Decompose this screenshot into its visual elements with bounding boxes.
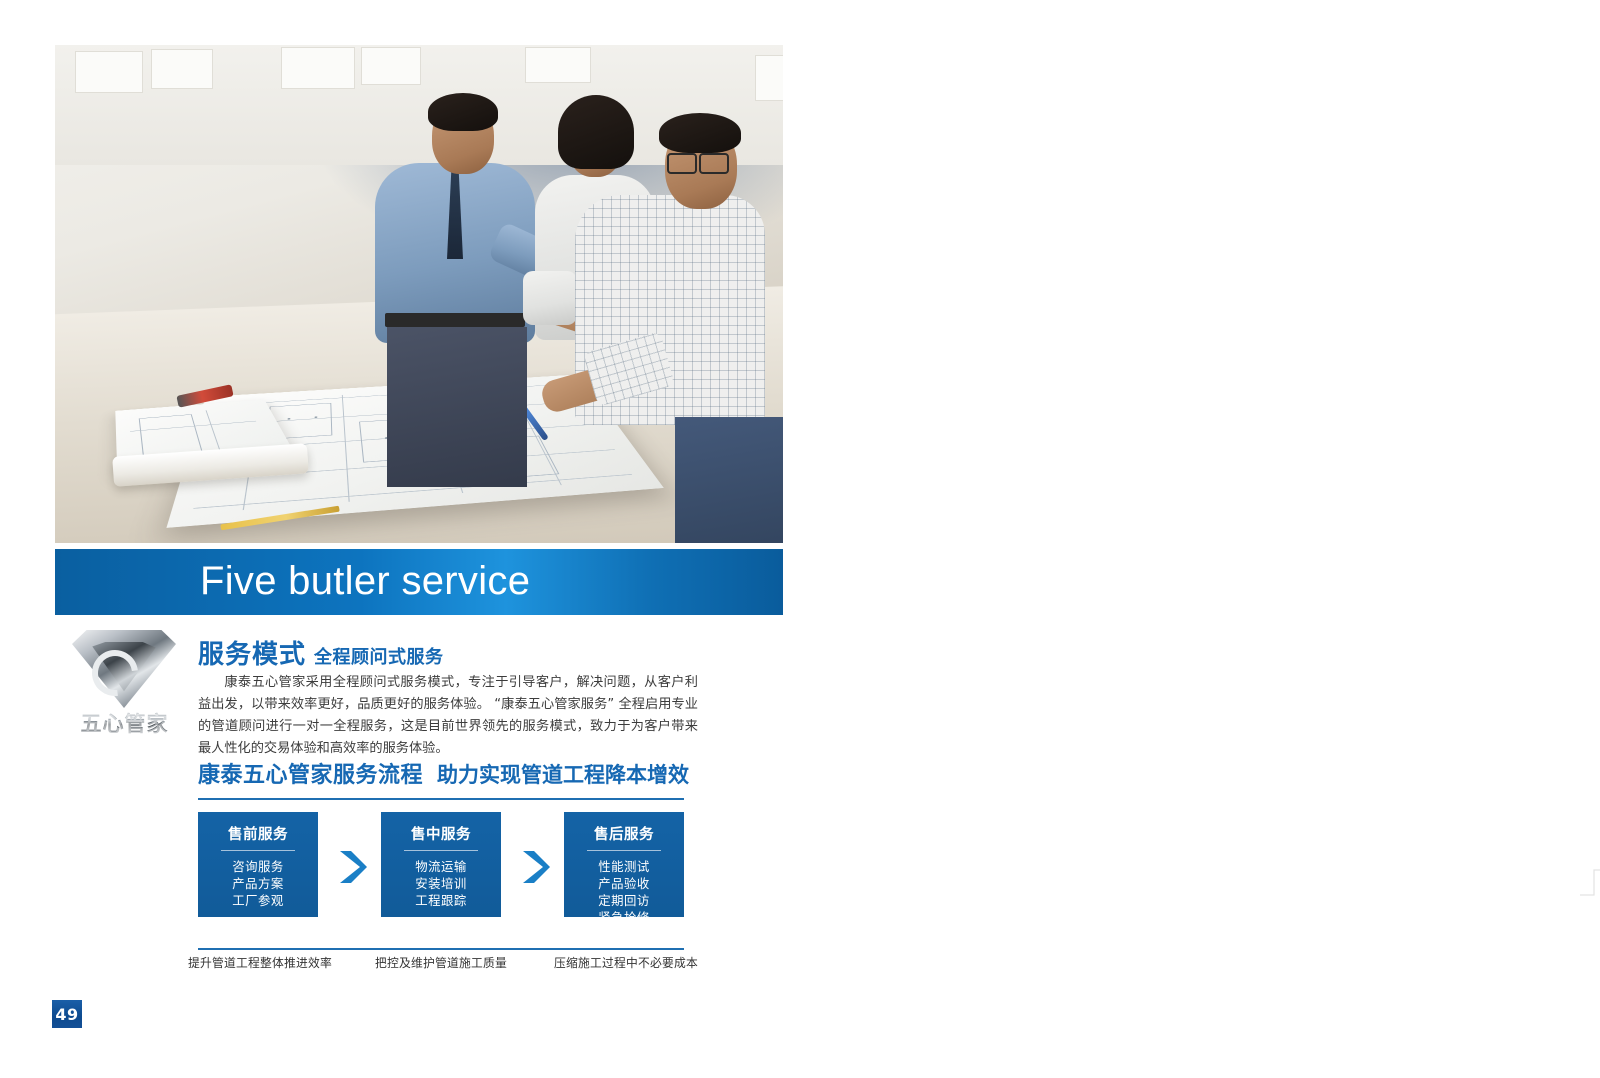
wall-panel xyxy=(361,47,421,85)
wall-panel xyxy=(755,55,783,101)
belt xyxy=(385,313,525,327)
flow-step-caption: 把控及维护管道施工质量 xyxy=(371,954,511,971)
flow-step-title: 售前服务 xyxy=(198,812,318,844)
person-hair xyxy=(558,95,634,169)
wall-panel xyxy=(151,49,213,89)
flow-step-item: 产品验收 xyxy=(564,875,684,892)
flow-step-title: 售后服务 xyxy=(564,812,684,844)
flow-step-aftersale[interactable]: 售后服务 性能测试 产品验收 定期回访 紧急抢修 xyxy=(564,812,684,917)
divider xyxy=(221,850,295,851)
divider xyxy=(587,850,661,851)
service-flow-diagram: 售前服务 咨询服务 产品方案 工厂参观 售中服务 物流运输 安装培训 工程跟踪 … xyxy=(198,812,684,917)
divider xyxy=(404,850,478,851)
right-page: The team support 团队支持——细节成就完美工程 为了保证客户利益… xyxy=(800,0,1600,1078)
flow-step-item: 安装培训 xyxy=(381,875,501,892)
person-hair xyxy=(428,93,498,131)
chevron-right-icon xyxy=(338,850,368,884)
service-mode-subtitle: 全程顾问式服务 xyxy=(314,647,444,668)
flow-step-item: 工厂参观 xyxy=(198,892,318,909)
flow-heading: 康泰五心管家服务流程助力实现管道工程降本增效 xyxy=(198,757,689,789)
person-sleeve xyxy=(523,271,577,325)
blueprint-line xyxy=(206,410,222,454)
wall-panel xyxy=(525,47,591,83)
wall-panel xyxy=(281,47,355,89)
flow-step-caption: 提升管道工程整体推进效率 xyxy=(188,954,328,971)
flow-step-item: 定期回访 xyxy=(564,892,684,909)
flow-step-item: 咨询服务 xyxy=(198,858,318,875)
flow-step-item: 物流运输 xyxy=(381,858,501,875)
flow-subtitle: 助力实现管道工程降本增效 xyxy=(437,763,689,787)
city-skyline-outline xyxy=(1580,725,1600,905)
flow-bottom-rule xyxy=(198,948,684,950)
service-mode-heading: 服务模式全程顾问式服务 xyxy=(198,634,444,671)
flow-step-item: 产品方案 xyxy=(198,875,318,892)
flow-top-rule xyxy=(198,798,684,800)
person-trousers xyxy=(387,327,527,487)
five-butler-logo: 五心管家 xyxy=(62,628,187,746)
flow-step-caption: 压缩施工过程中不必要成本 xyxy=(554,954,694,971)
glasses-icon xyxy=(699,153,729,174)
blueprint-line xyxy=(342,395,350,502)
section-banner: Five butler service xyxy=(55,549,783,615)
left-page: Five butler service 五心管家 服务模式全程顾问式服务 康泰五… xyxy=(0,0,800,1078)
service-mode-title: 服务模式 xyxy=(198,640,306,670)
wall-panel xyxy=(75,51,143,93)
flow-step-item: 工程跟踪 xyxy=(381,892,501,909)
flow-step-insale[interactable]: 售中服务 物流运输 安装培训 工程跟踪 xyxy=(381,812,501,917)
person-jeans xyxy=(675,417,783,543)
glasses-icon xyxy=(667,153,697,174)
service-mode-paragraph: 康泰五心管家采用全程顾问式服务模式，专注于引导客户，解决问题，从客户利益出发，以… xyxy=(198,672,698,760)
meeting-photo xyxy=(55,45,783,543)
flow-title: 康泰五心管家服务流程 xyxy=(198,763,423,788)
logo-text: 五心管家 xyxy=(62,708,187,738)
flow-step-item: 紧急抢修 xyxy=(564,909,684,926)
chevron-right-icon xyxy=(521,850,551,884)
flow-step-item: 性能测试 xyxy=(564,858,684,875)
banner-title: Five butler service xyxy=(200,559,530,604)
page-number-left: 49 xyxy=(52,1000,82,1028)
person-hair xyxy=(659,113,741,153)
flow-step-presale[interactable]: 售前服务 咨询服务 产品方案 工厂参观 xyxy=(198,812,318,917)
flow-step-title: 售中服务 xyxy=(381,812,501,844)
